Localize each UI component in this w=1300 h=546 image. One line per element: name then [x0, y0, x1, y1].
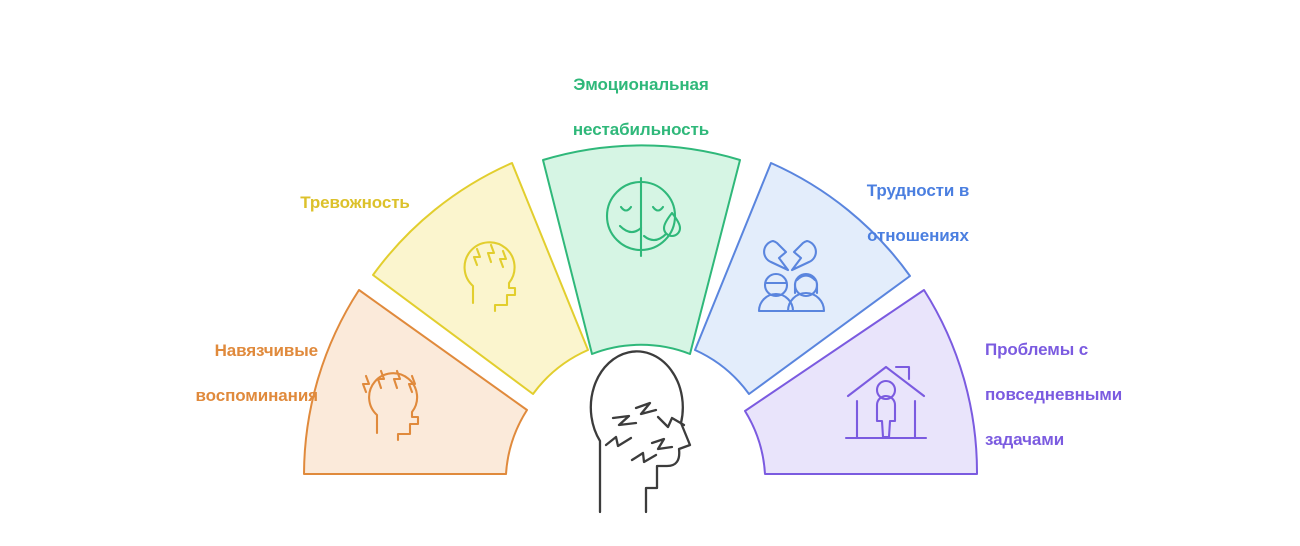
label-line: Проблемы с — [985, 340, 1088, 359]
label-anxiety: Тревожность — [280, 170, 430, 215]
infographic-canvas: Навязчивые воспоминания Тревожность Эмоц… — [0, 0, 1300, 546]
label-daily-tasks-problems: Проблемы с повседневными задачами — [985, 317, 1160, 452]
label-line: повседневными — [985, 385, 1122, 404]
label-relationship-difficulties: Трудности в отношениях — [843, 158, 993, 248]
label-intrusive-memories: Навязчивые воспоминания — [168, 318, 318, 408]
label-line: задачами — [985, 430, 1064, 449]
label-line: отношениях — [867, 226, 969, 245]
head-with-chaotic-thoughts-icon — [591, 351, 690, 512]
label-line: нестабильность — [573, 120, 709, 139]
label-line: Эмоциональная — [573, 75, 708, 94]
label-line: Трудности в — [867, 181, 969, 200]
label-emotional-instability: Эмоциональная нестабильность — [553, 52, 729, 142]
label-line: Навязчивые — [215, 341, 318, 360]
label-line: Тревожность — [300, 193, 410, 212]
label-line: воспоминания — [196, 386, 318, 405]
